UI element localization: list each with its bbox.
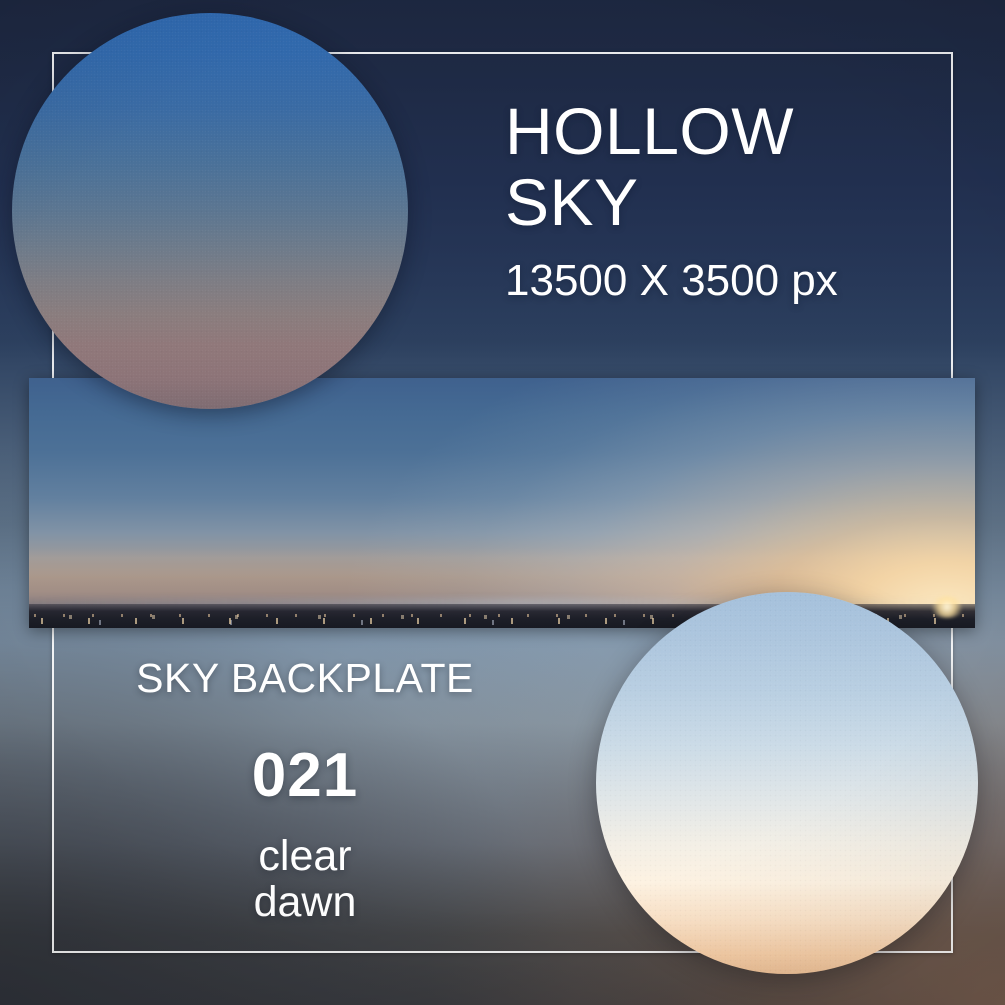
poster-vignette bbox=[0, 0, 1005, 1005]
sky-backplate-poster: HOLLOW SKY 13500 X 3500 px SKY BACKPLATE… bbox=[0, 0, 1005, 1005]
